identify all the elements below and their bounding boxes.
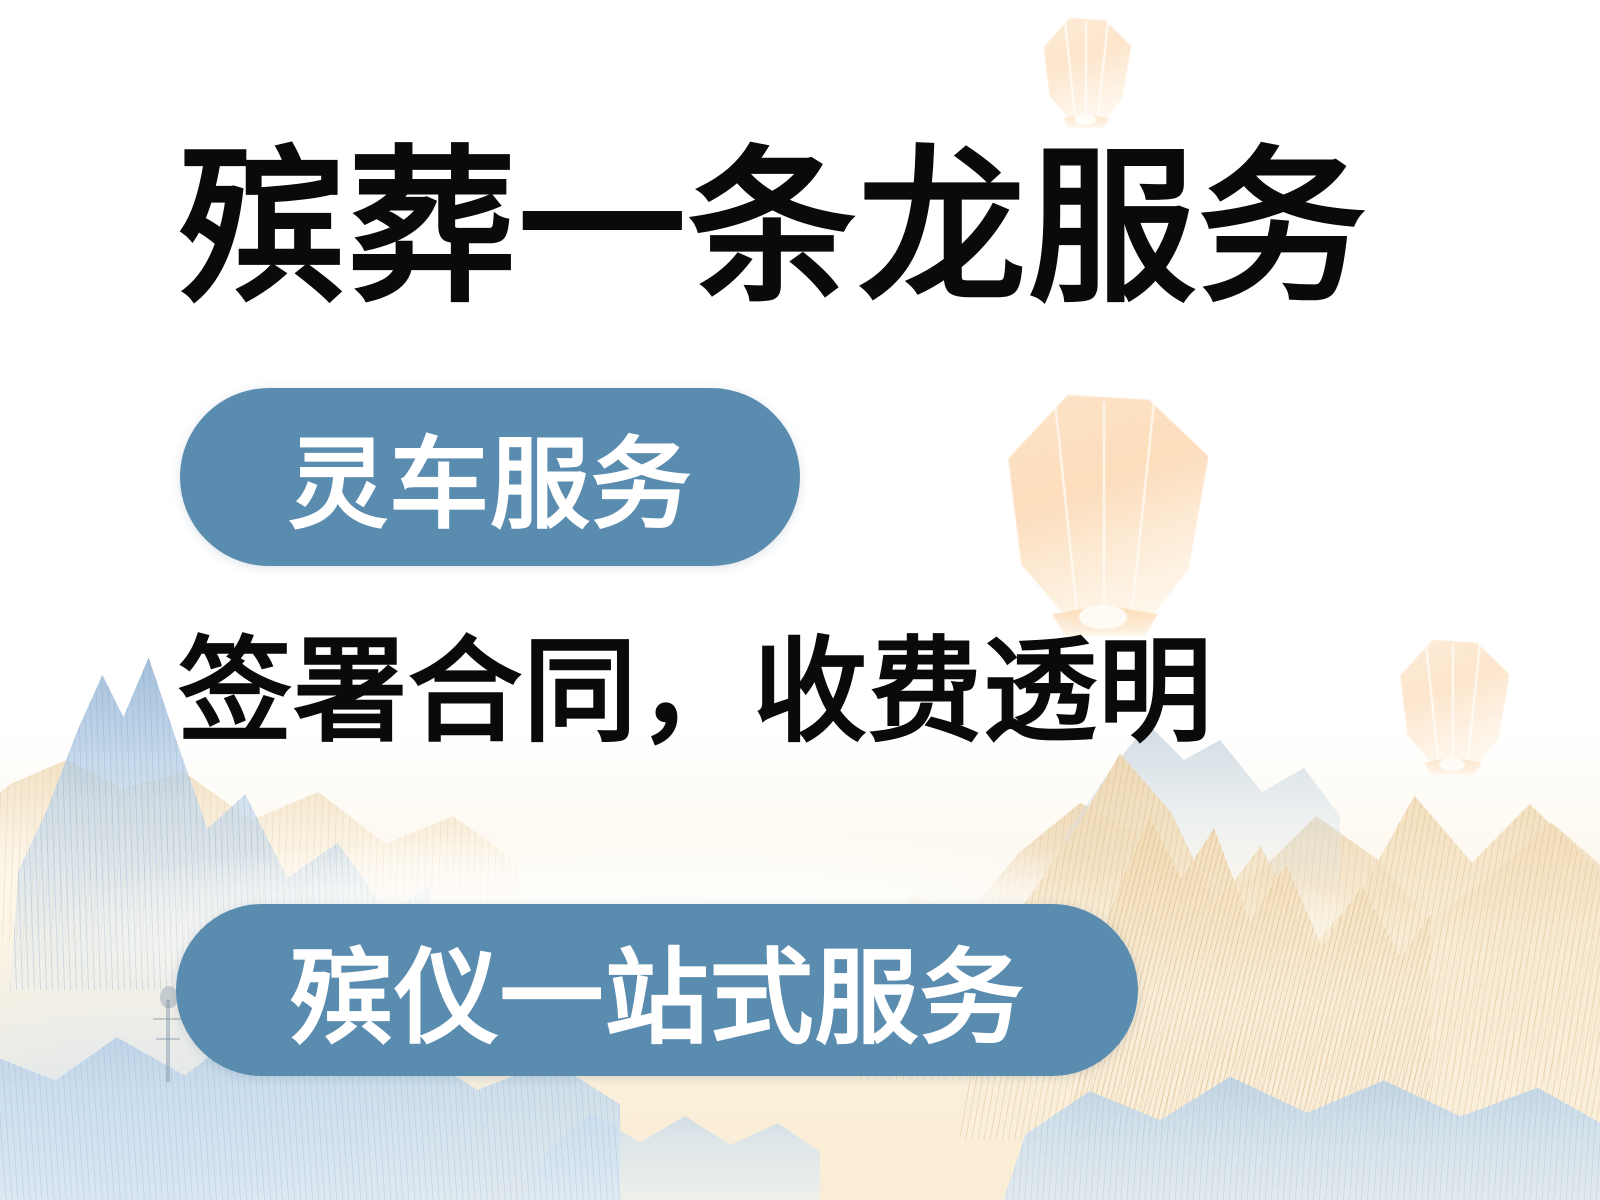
service-pill-hearse-label: 灵车服务 (288, 403, 692, 548)
poster-content: 殡葬一条龙服务 灵车服务 签署合同，收费透明 殡仪一站式服务 (0, 0, 1600, 1200)
service-pill-onestop[interactable]: 殡仪一站式服务 (176, 904, 1138, 1076)
service-pill-hearse[interactable]: 灵车服务 (180, 388, 800, 566)
subtitle-contract-transparency: 签署合同，收费透明 (178, 636, 1213, 750)
service-pill-onestop-label: 殡仪一站式服务 (289, 913, 1024, 1064)
poster-canvas: 殡葬一条龙服务 灵车服务 签署合同，收费透明 殡仪一站式服务 (0, 0, 1600, 1200)
page-title: 殡葬一条龙服务 (178, 146, 1368, 314)
